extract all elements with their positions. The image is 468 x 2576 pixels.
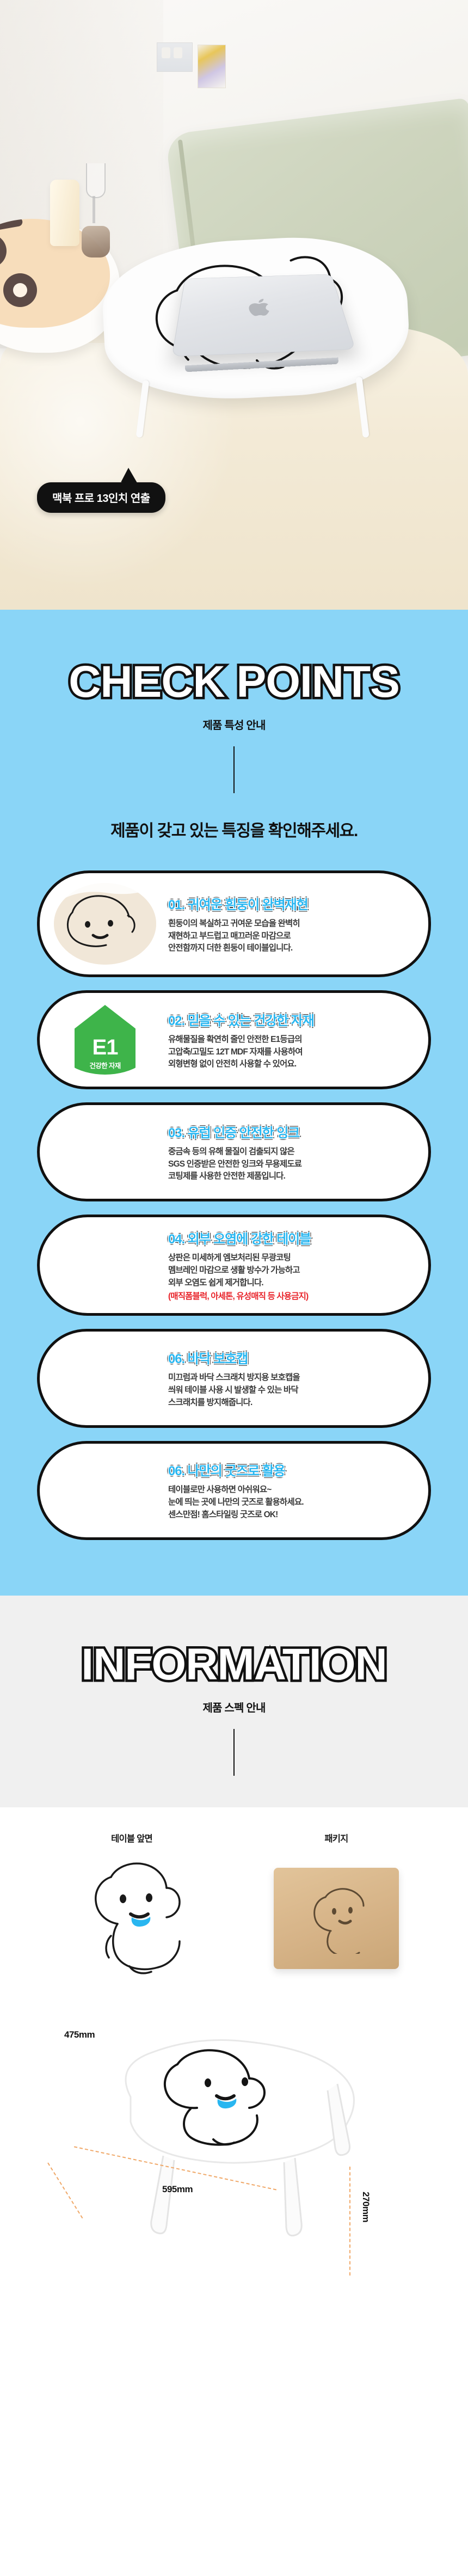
- card-text: 01. 귀여운 흰둥이 완벽재현 흰둥이의 복실하고 귀여운 모습을 완벽히 재…: [168, 893, 410, 955]
- divider: [233, 1729, 235, 1776]
- macbook-laptop: [172, 274, 356, 357]
- spec-label: 테이블 앞면: [59, 1831, 205, 1844]
- product-table: [103, 207, 408, 436]
- card-title: 01. 귀여운 흰둥이 완벽재현: [168, 894, 410, 913]
- card-text: 06. 바닥 보호캡 미끄럼과 바닥 스크래치 방지용 보호캡을 씌워 테이블 …: [168, 1347, 410, 1409]
- check-point-card: 03. 유럽 인증 안전한 잉크 중금속 등의 유해 물질이 검출되지 않은 S…: [37, 1102, 431, 1201]
- card-description: 미끄럼과 바닥 스크래치 방지용 보호캡을 씌워 테이블 사용 시 발생할 수 …: [168, 1372, 410, 1409]
- dimension-guide-line: [349, 2167, 350, 2276]
- check-point-card: E1 건강한 자재 02. 믿을 수 있는 건강한 자재 유해물질을 확연히 줄…: [37, 990, 431, 1089]
- card-title: 02. 믿을 수 있는 건강한 자재: [168, 1010, 410, 1029]
- card-description: 중금속 등의 유해 물질이 검출되지 않은 SGS 인증받은 안전한 잉크와 무…: [168, 1146, 410, 1183]
- spec-row: 테이블 앞면: [0, 1831, 468, 1983]
- check-point-card: 04. 외부 오염에 강한 테이블 상판은 미세하게 엠보처리된 무광코팅 멤브…: [37, 1215, 431, 1316]
- leaf-icon: [125, 1015, 143, 1033]
- dimension-guide-line: [47, 2162, 83, 2218]
- hero-product-photo: 맥북 프로 13인치 연출: [0, 0, 468, 610]
- check-point-card: 06. 나만의 굿즈로 활용 테이블로만 사용하면 아쉬워요~ 눈에 띄는 곳에…: [37, 1441, 431, 1540]
- card-text: 03. 유럽 인증 안전한 잉크 중금속 등의 유해 물질이 검출되지 않은 S…: [168, 1121, 410, 1183]
- check-points-section: CHECK POINTS 제품 특성 안내 제품이 갖고 있는 특징을 확인해주…: [0, 610, 468, 1596]
- table-leg: [355, 377, 370, 438]
- candle: [50, 180, 79, 246]
- check-points-title: CHECK POINTS: [0, 660, 468, 704]
- bottom-spacer: [0, 2309, 468, 2343]
- package-dog-print: [304, 1883, 369, 1954]
- card-title: 06. 바닥 보호캡: [168, 1348, 410, 1367]
- card-title: 06. 나만의 굿즈로 활용: [168, 1460, 410, 1479]
- information-section: INFORMATION 제품 스펙 안내 테이블 앞면: [0, 1596, 468, 2343]
- spec-label: 패키지: [263, 1831, 409, 1844]
- card-text: 04. 외부 오염에 강한 테이블 상판은 미세하게 엠보처리된 무광코팅 멤브…: [168, 1227, 410, 1303]
- check-point-card: 01. 귀여운 흰둥이 완벽재현 흰둥이의 복실하고 귀여운 모습을 완벽히 재…: [37, 870, 431, 977]
- character-eye-icon: [0, 234, 7, 268]
- character-eye-icon: [3, 273, 37, 307]
- card-warning-note: (매직폼블럭, 아세톤, 유성매직 등 사용금지): [168, 1291, 410, 1303]
- card-description: 테이블로만 사용하면 아쉬워요~ 눈에 띄는 곳에 나만의 굿즈로 활용하세요.…: [168, 1484, 410, 1522]
- card-description: 유해물질을 확연히 줄인 안전한 E1등급의 고압축/고밀도 12T MDF 자…: [168, 1034, 410, 1071]
- information-title: INFORMATION: [0, 1642, 468, 1687]
- e1-grade-badge: E1 건강한 자재: [54, 1005, 156, 1075]
- card-description: 흰둥이의 복실하고 귀여운 모습을 완벽히 재현하고 부드럽고 매끄러운 마감으…: [168, 918, 410, 955]
- table-dimension-illustration: [82, 2032, 386, 2260]
- check-point-card: 06. 바닥 보호캡 미끄럼과 바닥 스크래치 방지용 보호캡을 씌워 테이블 …: [37, 1329, 431, 1428]
- card-title: 03. 유럽 인증 안전한 잉크: [168, 1122, 410, 1141]
- e1-grade-label: E1: [93, 1038, 118, 1057]
- product-detail-page: 맥북 프로 13인치 연출 CHECK POINTS 제품 특성 안내 제품이 …: [0, 0, 468, 2343]
- card-title: 04. 외부 오염에 강한 테이블: [168, 1228, 410, 1247]
- package-box: [274, 1868, 399, 1969]
- check-points-card-list: 01. 귀여운 흰둥이 완벽재현 흰둥이의 복실하고 귀여운 모습을 완벽히 재…: [0, 870, 468, 1540]
- card-text: 06. 나만의 굿즈로 활용 테이블로만 사용하면 아쉬워요~ 눈에 띄는 곳에…: [168, 1459, 410, 1522]
- dimension-depth-label: 595mm: [162, 2184, 193, 2195]
- character-brow-icon: [0, 219, 23, 236]
- dimension-width-label: 475mm: [64, 2029, 95, 2040]
- information-subtitle: 제품 스펙 안내: [0, 1699, 468, 1715]
- wall-photo-icon: [157, 42, 193, 72]
- divider: [233, 746, 235, 793]
- apple-logo-icon: [248, 298, 274, 318]
- wall-poster-icon: [198, 45, 226, 88]
- card-text: 02. 믿을 수 있는 건강한 자재 유해물질을 확연히 줄인 안전한 E1등급…: [168, 1009, 410, 1071]
- table-front-illustration: [59, 1854, 205, 1983]
- dimension-diagram: 475mm 595mm 270mm: [0, 2004, 468, 2309]
- spec-item-table-front: 테이블 앞면: [59, 1831, 205, 1983]
- dimension-height-label: 270mm: [360, 2192, 371, 2222]
- check-points-subtitle: 제품 특성 안내: [0, 716, 468, 732]
- e1-badge-shape: E1 건강한 자재: [75, 1005, 136, 1075]
- card-description: 상판은 미세하게 엠보처리된 무광코팅 멤브레인 마감으로 생활 방수가 가능하…: [168, 1252, 410, 1290]
- e1-badge-caption: 건강한 자재: [89, 1060, 120, 1070]
- macbook-callout-badge: 맥북 프로 13인치 연출: [37, 482, 165, 513]
- package-box-illustration: [263, 1854, 409, 1983]
- check-points-lead: 제품이 갖고 있는 특징을 확인해주세요.: [0, 817, 468, 841]
- spec-item-package: 패키지: [263, 1831, 409, 1983]
- spec-panel: 테이블 앞면: [0, 1807, 468, 2343]
- dog-illustration-photo: [54, 883, 156, 965]
